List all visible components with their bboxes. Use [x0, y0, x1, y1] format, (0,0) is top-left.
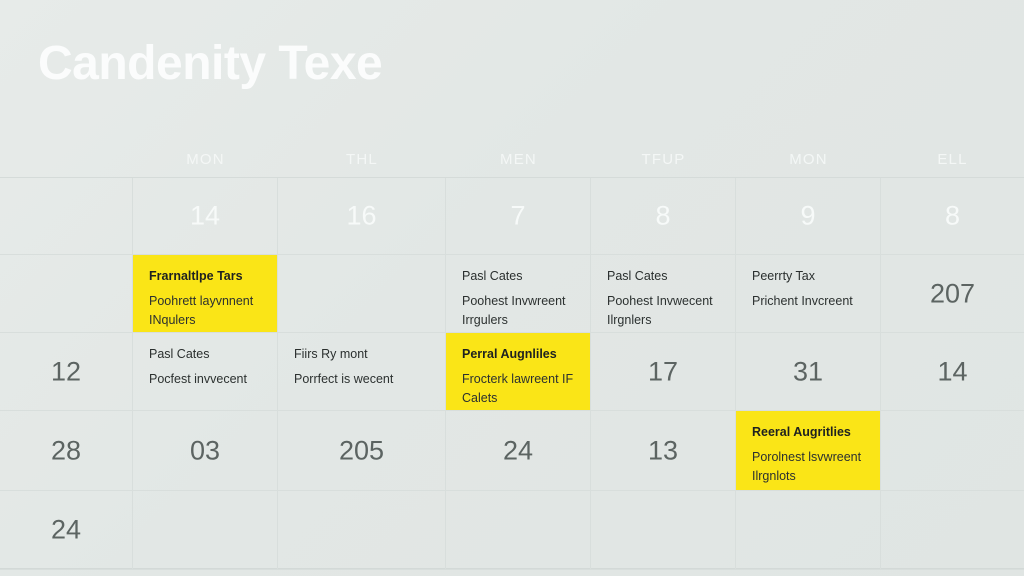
calendar-day-cell[interactable]: 28: [0, 411, 133, 491]
calendar-event-cell-highlighted[interactable]: Frarnaltlpe TarsPoohrett layvnnent INqul…: [133, 255, 278, 333]
day-number: 17: [591, 358, 735, 385]
calendar-empty-cell[interactable]: [133, 491, 278, 570]
weekday-header-row: MONTHLMENTFUPMONELL: [0, 142, 1024, 176]
calendar-event-cell[interactable]: Peerrty TaxPrichent Invcreent: [736, 255, 881, 333]
event-description: Porolnest lsvwreent Ilrgnlots: [752, 448, 866, 487]
day-number: 9: [736, 203, 880, 230]
day-number: 7: [446, 203, 590, 230]
day-number: 28: [0, 437, 132, 464]
calendar-empty-cell[interactable]: [0, 255, 133, 333]
weekday-header-6: ELL: [881, 142, 1024, 176]
calendar-event-cell[interactable]: Pasl CatesPoohest Invwecent Ilrgnlers: [591, 255, 736, 333]
day-number: 14: [881, 358, 1024, 385]
event-description: Poohrett layvnnent INqulers: [149, 292, 263, 331]
calendar-day-cell[interactable]: 24: [0, 491, 133, 570]
day-number: 8: [591, 203, 735, 230]
event-block[interactable]: Pasl CatesPocfest invvecent: [133, 333, 277, 410]
event-title: Pasl Cates: [607, 269, 721, 285]
event-title: Fiirs Ry mont: [294, 347, 431, 363]
calendar-empty-cell[interactable]: [881, 491, 1024, 570]
event-block[interactable]: Peerrty TaxPrichent Invcreent: [736, 255, 880, 332]
event-title: Reeral Augritlies: [752, 425, 866, 441]
event-description: Frocterk lawreent IF Calets: [462, 370, 576, 409]
event-description: Porrfect is wecent: [294, 370, 431, 389]
day-number: 12: [0, 358, 132, 385]
calendar-empty-cell[interactable]: [0, 178, 133, 255]
event-title: Peerrty Tax: [752, 269, 866, 285]
calendar-day-cell[interactable]: 12: [0, 333, 133, 411]
day-number: 205: [278, 437, 445, 464]
event-title: Perral Augnliles: [462, 347, 576, 363]
calendar-empty-cell[interactable]: [736, 491, 881, 570]
day-number: 03: [133, 437, 277, 464]
day-number: 24: [0, 517, 132, 544]
calendar-day-cell[interactable]: 17: [591, 333, 736, 411]
calendar-day-cell[interactable]: 205: [278, 411, 446, 491]
day-number: 207: [881, 280, 1024, 307]
calendar-empty-cell[interactable]: [446, 491, 591, 570]
event-block[interactable]: Reeral AugritliesPorolnest lsvwreent Ilr…: [736, 411, 880, 490]
event-block[interactable]: Pasl CatesPoohest Invwecent Ilrgnlers: [591, 255, 735, 332]
calendar-event-cell[interactable]: Pasl CatesPoohest Invwreent Irrgulers: [446, 255, 591, 333]
calendar-day-cell[interactable]: 24: [446, 411, 591, 491]
event-description: Poohest Invwecent Ilrgnlers: [607, 292, 721, 331]
event-description: Prichent Invcreent: [752, 292, 866, 311]
weekday-header-4: TFUP: [591, 142, 736, 176]
day-number: 8: [881, 203, 1024, 230]
calendar-event-cell[interactable]: Fiirs Ry montPorrfect is wecent: [278, 333, 446, 411]
calendar-day-cell[interactable]: 14: [133, 178, 278, 255]
calendar-day-cell[interactable]: 13: [591, 411, 736, 491]
weekday-header-2: THL: [278, 142, 446, 176]
calendar-empty-cell[interactable]: [278, 255, 446, 333]
event-description: Pocfest invvecent: [149, 370, 263, 389]
calendar-day-cell[interactable]: 14: [881, 333, 1024, 411]
weekday-header-5: MON: [736, 142, 881, 176]
calendar-empty-cell[interactable]: [881, 411, 1024, 491]
calendar-day-cell[interactable]: 9: [736, 178, 881, 255]
weekday-header-1: MON: [133, 142, 278, 176]
weekday-header-blank: [0, 142, 133, 176]
calendar-day-cell[interactable]: 8: [881, 178, 1024, 255]
page-title: Candenity Texe: [38, 38, 382, 91]
calendar-day-cell[interactable]: 03: [133, 411, 278, 491]
event-title: Pasl Cates: [149, 347, 263, 363]
event-title: Frarnaltlpe Tars: [149, 269, 263, 285]
calendar-event-cell-highlighted[interactable]: Perral AugnlilesFrocterk lawreent IF Cal…: [446, 333, 591, 411]
day-number: 14: [133, 203, 277, 230]
weekday-header-3: MEN: [446, 142, 591, 176]
event-block[interactable]: Pasl CatesPoohest Invwreent Irrgulers: [446, 255, 590, 332]
calendar-empty-cell[interactable]: [278, 491, 446, 570]
day-number: 24: [446, 437, 590, 464]
calendar-grid[interactable]: 14167898Frarnaltlpe TarsPoohrett layvnne…: [0, 177, 1024, 569]
day-number: 13: [591, 437, 735, 464]
event-block[interactable]: Perral AugnlilesFrocterk lawreent IF Cal…: [446, 333, 590, 410]
event-block[interactable]: Fiirs Ry montPorrfect is wecent: [278, 333, 445, 410]
calendar-empty-cell[interactable]: [591, 491, 736, 570]
calendar-day-cell[interactable]: 8: [591, 178, 736, 255]
calendar-day-cell[interactable]: 7: [446, 178, 591, 255]
calendar-day-cell[interactable]: 207: [881, 255, 1024, 333]
calendar-day-cell[interactable]: 16: [278, 178, 446, 255]
event-block[interactable]: Frarnaltlpe TarsPoohrett layvnnent INqul…: [133, 255, 277, 332]
event-description: Poohest Invwreent Irrgulers: [462, 292, 576, 331]
calendar-day-cell[interactable]: 31: [736, 333, 881, 411]
calendar-app: Candenity Texe MONTHLMENTFUPMONELL 14167…: [0, 0, 1024, 576]
day-number: 31: [736, 358, 880, 385]
calendar-event-cell[interactable]: Pasl CatesPocfest invvecent: [133, 333, 278, 411]
day-number: 16: [278, 203, 445, 230]
calendar-event-cell-highlighted[interactable]: Reeral AugritliesPorolnest lsvwreent Ilr…: [736, 411, 881, 491]
event-title: Pasl Cates: [462, 269, 576, 285]
